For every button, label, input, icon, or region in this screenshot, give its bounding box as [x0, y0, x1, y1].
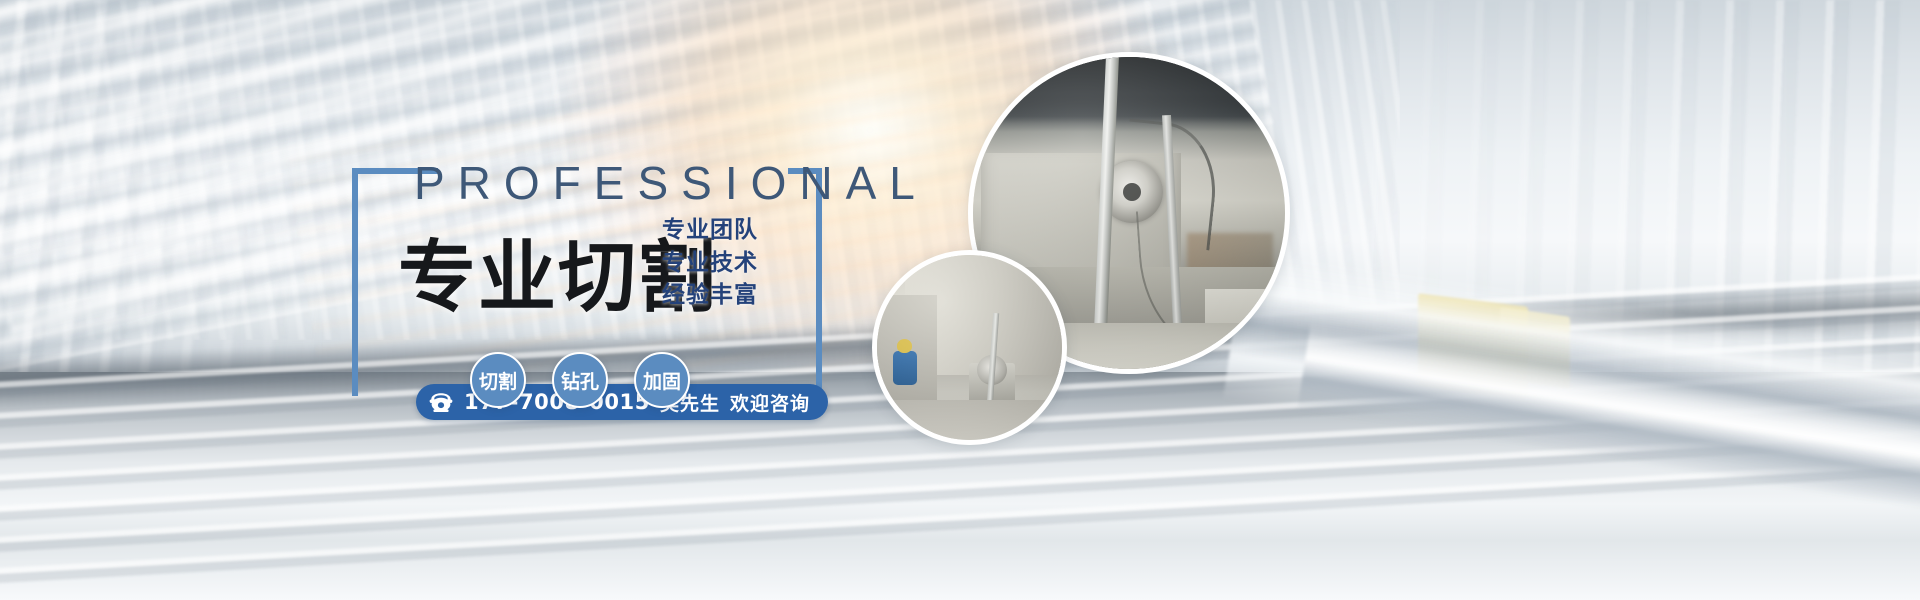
promo-banner: PROFESSIONAL 专业切割 专业团队 专业技术 经验丰富 177-700…: [0, 0, 1920, 600]
feature-item-3: 经验丰富: [662, 279, 758, 312]
service-button-cutting[interactable]: 切割: [470, 352, 526, 408]
service-buttons: 切割 钻孔 加固: [470, 352, 690, 408]
feature-list: 专业团队 专业技术 经验丰富: [662, 214, 758, 312]
feature-item-1: 专业团队: [662, 214, 758, 247]
telephone-icon: [428, 391, 454, 413]
photo-dark-ceiling: [973, 57, 1285, 123]
service-button-reinforcement[interactable]: 加固: [634, 352, 690, 408]
contact-cta: 欢迎咨询: [730, 389, 810, 416]
eyebrow-text: PROFESSIONAL: [414, 156, 928, 210]
feature-item-2: 专业技术: [662, 247, 758, 280]
service-button-drilling[interactable]: 钻孔: [552, 352, 608, 408]
